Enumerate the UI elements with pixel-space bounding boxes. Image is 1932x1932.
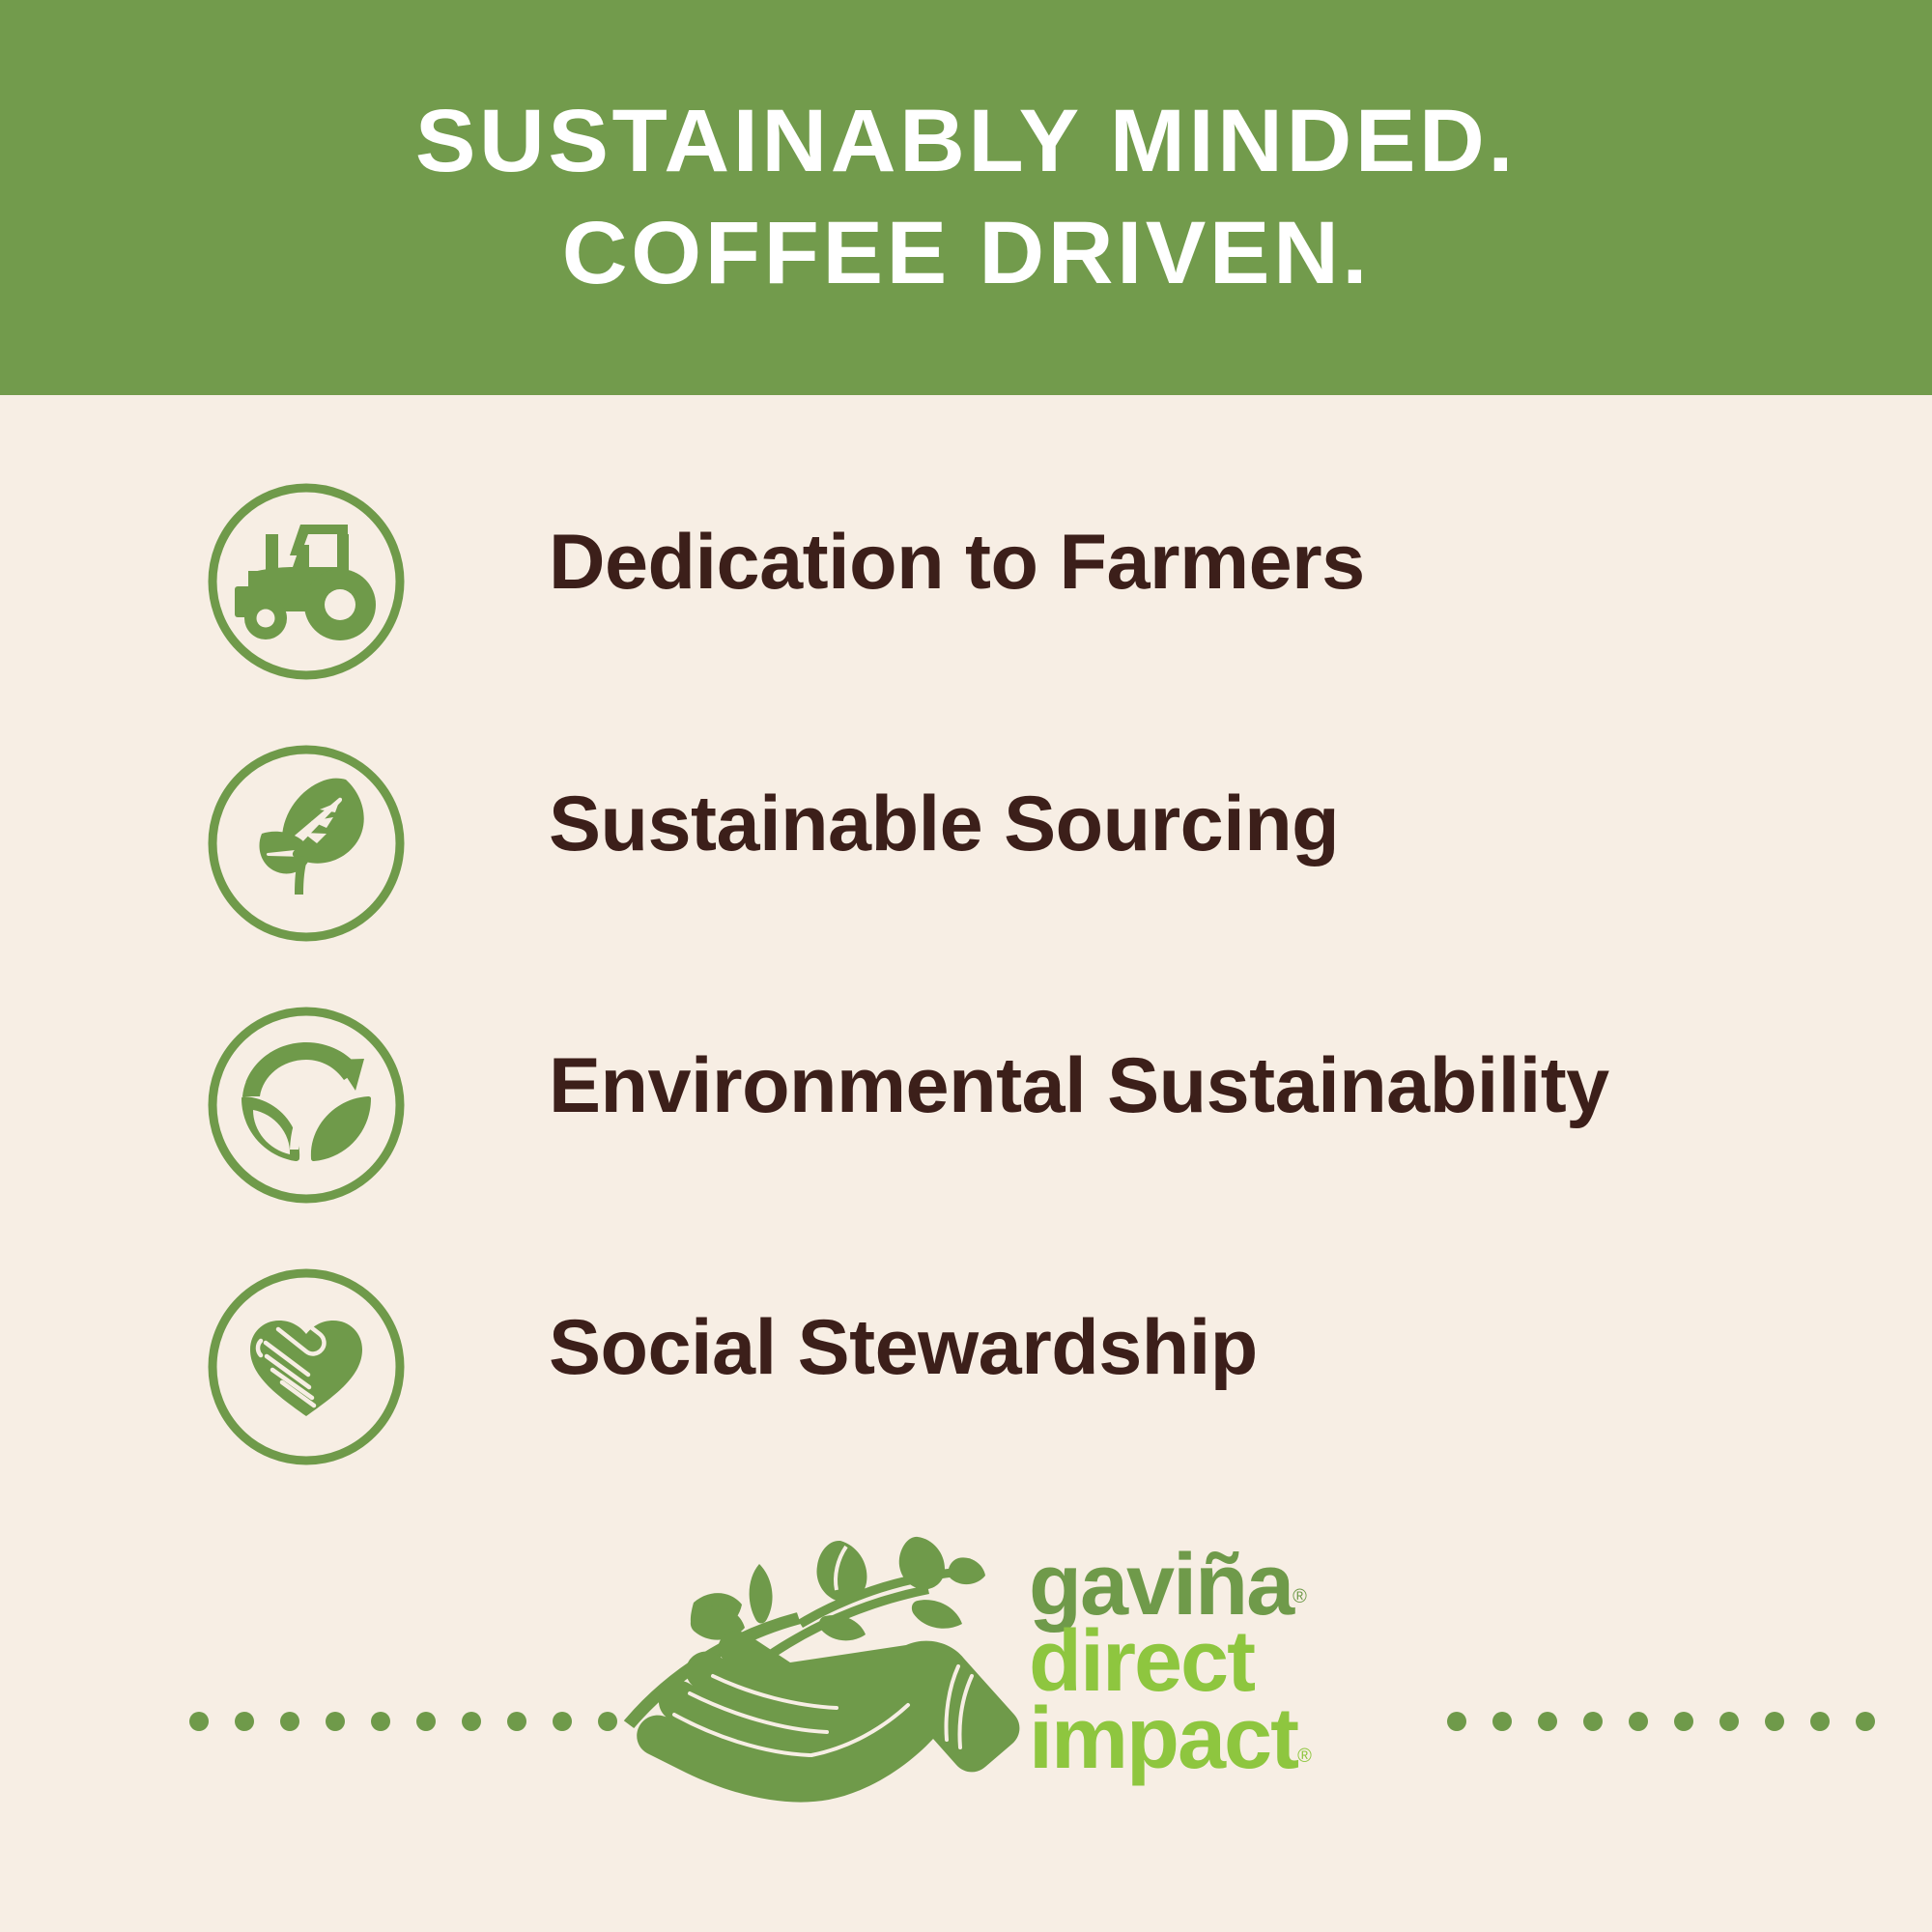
pillar-row-environmental-sustainability: Environmental Sustainability bbox=[0, 994, 1932, 1256]
handshake-heart-icon bbox=[203, 1264, 410, 1470]
dot bbox=[1719, 1712, 1739, 1731]
logo-wordmark: gaviña® direct impact® bbox=[1029, 1548, 1338, 1776]
headline-line-2: COFFEE DRIVEN. bbox=[561, 198, 1370, 310]
pillar-list: Dedication to Farmers bbox=[0, 470, 1932, 1518]
leaf-sprout-icon bbox=[203, 740, 410, 947]
pillar-row-dedication-to-farmers: Dedication to Farmers bbox=[0, 470, 1932, 732]
logo-word-impact: impact bbox=[1029, 1690, 1297, 1787]
registered-mark: ® bbox=[1293, 1586, 1307, 1607]
dot bbox=[1674, 1712, 1693, 1731]
dot bbox=[1538, 1712, 1557, 1731]
pillar-label: Sustainable Sourcing bbox=[549, 785, 1339, 864]
dot bbox=[1492, 1712, 1512, 1731]
pillar-label: Dedication to Farmers bbox=[549, 524, 1365, 602]
headline-line-1: SUSTAINABLY MINDED. bbox=[415, 86, 1517, 198]
pillar-row-sustainable-sourcing: Sustainable Sourcing bbox=[0, 732, 1932, 994]
dot bbox=[235, 1712, 254, 1731]
dot bbox=[280, 1712, 299, 1731]
dot bbox=[1583, 1712, 1603, 1731]
decorative-dots-right bbox=[1447, 1712, 1875, 1731]
dot bbox=[189, 1712, 209, 1731]
dot bbox=[598, 1712, 617, 1731]
poster-root: SUSTAINABLY MINDED. COFFEE DRIVEN. bbox=[0, 0, 1932, 1932]
pillar-row-social-stewardship: Social Stewardship bbox=[0, 1256, 1932, 1518]
dot bbox=[1856, 1712, 1875, 1731]
dot bbox=[371, 1712, 390, 1731]
registered-mark: ® bbox=[1297, 1746, 1312, 1767]
recycle-leaves-icon bbox=[203, 1002, 410, 1208]
decorative-dots-left bbox=[189, 1712, 617, 1731]
dot bbox=[1629, 1712, 1648, 1731]
dot bbox=[462, 1712, 481, 1731]
dot bbox=[1447, 1712, 1466, 1731]
dot bbox=[416, 1712, 436, 1731]
gavina-direct-impact-logo: gaviña® direct impact® bbox=[618, 1531, 1333, 1860]
header-band: SUSTAINABLY MINDED. COFFEE DRIVEN. bbox=[0, 0, 1932, 395]
dot bbox=[553, 1712, 572, 1731]
dot bbox=[1810, 1712, 1830, 1731]
tractor-icon bbox=[203, 478, 410, 685]
logo-brand-line: gaviña® bbox=[1029, 1548, 1338, 1623]
pillar-label: Social Stewardship bbox=[549, 1309, 1258, 1387]
dot bbox=[1765, 1712, 1784, 1731]
hand-holding-coffee-branch-icon bbox=[618, 1531, 1029, 1850]
dot bbox=[326, 1712, 345, 1731]
dot bbox=[507, 1712, 526, 1731]
pillar-label: Environmental Sustainability bbox=[549, 1047, 1609, 1125]
logo-word-direct: direct bbox=[1029, 1625, 1338, 1699]
logo-word-impact-line: impact® bbox=[1029, 1702, 1338, 1776]
